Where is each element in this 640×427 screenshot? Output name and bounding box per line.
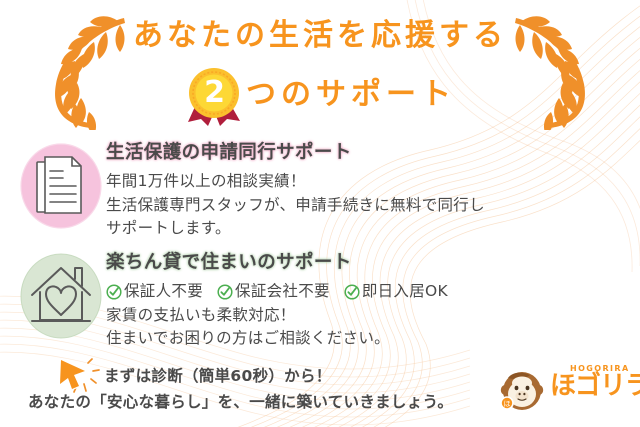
check-item: 即日入居OK [344, 280, 448, 304]
headline-line-2-row: 2 つのサポート [0, 64, 640, 126]
gorilla-mascot-icon: ほ [500, 370, 546, 412]
support-check-row: 保証人不要 保証会社不要 即日入居OK [106, 280, 622, 304]
support-line: 年間1万件以上の相談実績！ [106, 170, 622, 194]
footer-line-2: あなたの「安心な暮らし」を、一緒に築いていきましょう。 [28, 392, 453, 412]
check-circle-icon [344, 284, 360, 300]
support-line: 生活保護専門スタッフが、申請手続きに無料で同行し [106, 194, 622, 218]
support-block-rakuchingashi: 楽ちん貸で住まいのサポート 保証人不要 保証会社不要 [18, 248, 622, 351]
house-heart-icon [18, 248, 106, 344]
support-line: 住まいでお困りの方はご相談ください。 [106, 327, 622, 351]
support-line: サポートします。 [106, 217, 622, 241]
headline-line-2-text: つのサポート [246, 80, 456, 110]
check-label: 即日入居OK [362, 280, 448, 304]
support-line: 家賃の支払いも柔軟対応！ [106, 304, 622, 328]
support-banner: あなたの生活を応援する 2 つのサポート [0, 0, 640, 427]
support-title: 生活保護の申請同行サポート [106, 142, 622, 164]
support-body-seikatsuhogo: 生活保護の申請同行サポート 年間1万件以上の相談実績！ 生活保護専門スタッフが、… [106, 138, 622, 241]
support-title: 楽ちん貸で住まいのサポート [106, 252, 622, 274]
check-label: 保証人不要 [124, 280, 203, 304]
gold-medal-icon: 2 [184, 64, 246, 126]
check-circle-icon [217, 284, 233, 300]
check-circle-icon [106, 284, 122, 300]
support-block-seikatsuhogo: 生活保護の申請同行サポート 年間1万件以上の相談実績！ 生活保護専門スタッフが、… [18, 138, 622, 241]
check-item: 保証会社不要 [217, 280, 330, 304]
banner-footer: まずは診断（簡単60秒）から！ あなたの「安心な暮らし」を、一緒に築いていきまし… [0, 352, 640, 427]
footer-line-1: まずは診断（簡単60秒）から！ [104, 366, 332, 386]
medal-number: 2 [184, 64, 246, 126]
check-item: 保証人不要 [106, 280, 203, 304]
document-stack-icon [18, 138, 106, 234]
click-cursor-icon [58, 357, 100, 395]
banner-header: あなたの生活を応援する 2 つのサポート [0, 0, 640, 132]
support-body-rakuchingashi: 楽ちん貸で住まいのサポート 保証人不要 保証会社不要 [106, 248, 622, 351]
svg-text:ほ: ほ [504, 400, 511, 408]
logo-japanese-text: ほゴリラ [550, 370, 640, 403]
headline-line-1: あなたの生活を応援する [0, 21, 640, 51]
hogorira-logo[interactable]: ほ HOGORIRA ほゴリラ [500, 362, 636, 414]
check-label: 保証会社不要 [235, 280, 330, 304]
